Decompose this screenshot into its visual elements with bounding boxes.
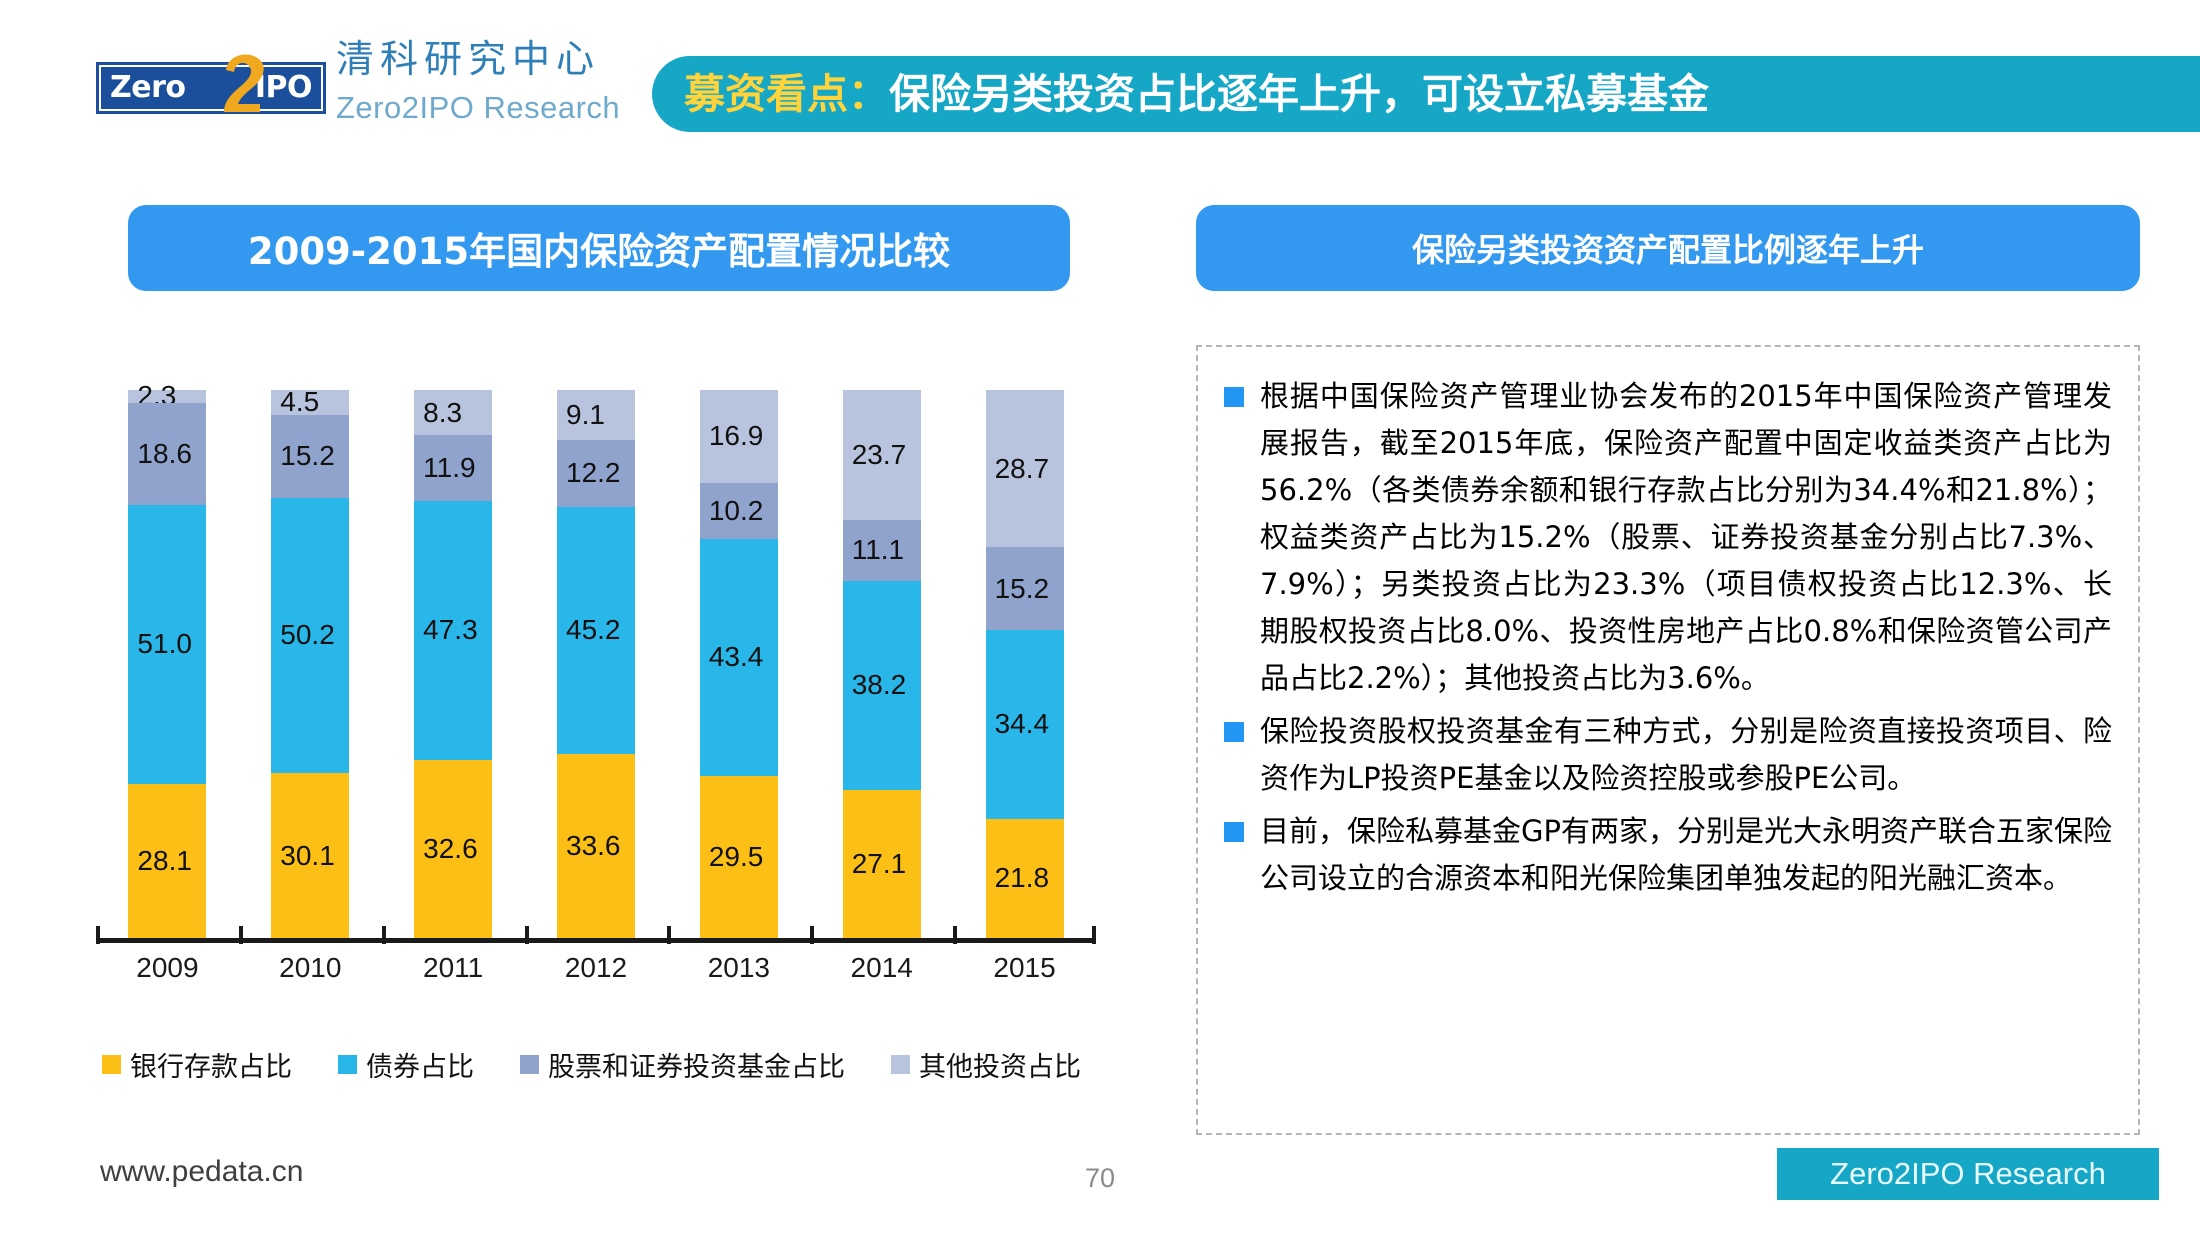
x-axis-tick [953, 926, 957, 944]
x-axis-tick [810, 926, 814, 944]
bar-segment: 28.1 [128, 784, 206, 938]
legend-item: 其他投资占比 [891, 1045, 1081, 1084]
bar-value-label: 43.4 [709, 643, 764, 671]
bar-2014: 23.711.138.227.1 [843, 390, 921, 938]
bar-value-label: 38.2 [852, 671, 907, 699]
banner-highlight-text: 募资看点： [684, 74, 889, 115]
stacked-bar-chart: 2.318.651.028.14.515.250.230.18.311.947.… [96, 330, 1156, 1120]
bar-value-label: 9.1 [566, 401, 605, 429]
x-axis-tick [1092, 926, 1096, 944]
commentary-panel: 根据中国保险资产管理业协会发布的2015年中国保险资产管理发展报告，截至2015… [1196, 345, 2140, 1135]
bullet-text: 根据中国保险资产管理业协会发布的2015年中国保险资产管理发展报告，截至2015… [1260, 373, 2112, 702]
bar-value-label: 28.7 [995, 455, 1050, 483]
bar-2009: 2.318.651.028.1 [128, 390, 206, 938]
bullet-text: 保险投资股权投资基金有三种方式，分别是险资直接投资项目、险资作为LP投资PE基金… [1260, 708, 2112, 802]
x-axis-label-2014: 2014 [827, 952, 937, 984]
bullet-item: 目前，保险私募基金GP有两家，分别是光大永明资产联合五家保险公司设立的合源资本和… [1224, 808, 2112, 902]
bar-value-label: 8.3 [423, 399, 462, 427]
bar-2010: 4.515.250.230.1 [271, 390, 349, 938]
bar-value-label: 23.7 [852, 441, 907, 469]
bar-2013: 16.910.243.429.5 [700, 390, 778, 938]
bar-value-label: 12.2 [566, 459, 621, 487]
bar-2015: 28.715.234.421.8 [986, 390, 1064, 938]
bar-segment: 33.6 [557, 754, 635, 938]
bar-value-label: 15.2 [280, 442, 335, 470]
legend-item: 银行存款占比 [102, 1045, 292, 1084]
slide-header: Zero IPO 清科研究中心 Zero2IPO Research 募资看点：保… [0, 0, 2200, 160]
bar-segment: 12.2 [557, 440, 635, 507]
legend-item: 债券占比 [338, 1045, 474, 1084]
bar-segment: 43.4 [700, 539, 778, 777]
bar-value-label: 50.2 [280, 621, 335, 649]
square-bullet-icon [1224, 822, 1244, 842]
bar-segment: 11.9 [414, 435, 492, 500]
brand-name-cn: 清科研究中心 [336, 40, 600, 80]
bar-value-label: 18.6 [137, 440, 192, 468]
x-axis-tick [96, 926, 100, 944]
x-axis-label-2012: 2012 [541, 952, 651, 984]
bar-value-label: 11.9 [423, 454, 475, 482]
x-axis-tick [382, 926, 386, 944]
bar-segment: 32.6 [414, 760, 492, 938]
footer-brand-badge: Zero2IPO Research [1777, 1148, 2159, 1200]
x-axis-label-2015: 2015 [970, 952, 1080, 984]
bar-segment: 28.7 [986, 390, 1064, 547]
bar-segment: 50.2 [271, 498, 349, 773]
bar-value-label: 47.3 [423, 616, 478, 644]
x-axis-label-2011: 2011 [398, 952, 508, 984]
bar-value-label: 30.1 [280, 842, 335, 870]
bar-segment: 10.2 [700, 483, 778, 539]
banner-rest-text: 保险另类投资占比逐年上升，可设立私募基金 [889, 74, 1709, 115]
legend-label: 银行存款占比 [130, 1045, 292, 1084]
zero2ipo-logo: Zero IPO [96, 48, 326, 114]
bar-2012: 9.112.245.233.6 [557, 390, 635, 938]
bar-value-label: 32.6 [423, 835, 478, 863]
square-bullet-icon [1224, 387, 1244, 407]
bullet-text: 目前，保险私募基金GP有两家，分别是光大永明资产联合五家保险公司设立的合源资本和… [1260, 808, 2112, 902]
bar-segment: 45.2 [557, 507, 635, 754]
left-panel-title: 2009-2015年国内保险资产配置情况比较 [128, 205, 1070, 291]
x-axis-labels: 2009201020112012201320142015 [96, 952, 1096, 998]
footer-website-url: www.pedata.cn [100, 1155, 303, 1189]
bar-value-label: 45.2 [566, 616, 621, 644]
legend-label: 债券占比 [366, 1045, 474, 1084]
bar-segment: 4.5 [271, 390, 349, 415]
logo-frame: Zero IPO [96, 62, 326, 114]
bar-2011: 8.311.947.332.6 [414, 390, 492, 938]
header-title-banner: 募资看点：保险另类投资占比逐年上升，可设立私募基金 [652, 56, 2200, 132]
bar-segment: 29.5 [700, 776, 778, 938]
x-axis-tick [239, 926, 243, 944]
bullet-item: 保险投资股权投资基金有三种方式，分别是险资直接投资项目、险资作为LP投资PE基金… [1224, 708, 2112, 802]
x-axis-tick [525, 926, 529, 944]
bar-value-label: 10.2 [709, 497, 764, 525]
bar-value-label: 29.5 [709, 843, 764, 871]
bar-segment: 34.4 [986, 630, 1064, 818]
bar-value-label: 28.1 [137, 847, 192, 875]
brand-name-en: Zero2IPO Research [336, 90, 620, 126]
chart-plot-area: 2.318.651.028.14.515.250.230.18.311.947.… [96, 390, 1096, 938]
legend-label: 股票和证券投资基金占比 [548, 1045, 845, 1084]
bar-segment: 8.3 [414, 390, 492, 435]
bar-segment: 51.0 [128, 505, 206, 784]
bar-value-label: 16.9 [709, 422, 764, 450]
bar-value-label: 33.6 [566, 832, 621, 860]
bar-segment: 15.2 [271, 415, 349, 498]
legend-swatch-icon [520, 1055, 539, 1074]
bar-value-label: 27.1 [852, 850, 907, 878]
footer-page-number: 70 [1070, 1163, 1130, 1194]
legend-item: 股票和证券投资基金占比 [520, 1045, 845, 1084]
chart-legend: 银行存款占比债券占比股票和证券投资基金占比其他投资占比 [102, 1042, 1132, 1086]
x-axis-label-2009: 2009 [112, 952, 222, 984]
bar-segment: 16.9 [700, 390, 778, 483]
bar-value-label: 15.2 [995, 575, 1050, 603]
x-axis-line [96, 938, 1096, 943]
x-axis-label-2010: 2010 [255, 952, 365, 984]
slide-root: Zero IPO 清科研究中心 Zero2IPO Research 募资看点：保… [0, 0, 2200, 1238]
bar-value-label: 51.0 [137, 630, 192, 658]
bullet-item: 根据中国保险资产管理业协会发布的2015年中国保险资产管理发展报告，截至2015… [1224, 373, 2112, 702]
bar-segment: 30.1 [271, 773, 349, 938]
bar-segment: 23.7 [843, 390, 921, 520]
bar-segment: 27.1 [843, 790, 921, 938]
bar-segment: 18.6 [128, 403, 206, 505]
legend-swatch-icon [102, 1055, 121, 1074]
bar-segment: 9.1 [557, 390, 635, 440]
bar-value-label: 34.4 [995, 710, 1050, 738]
logo-inner: Zero IPO [101, 67, 321, 109]
bar-segment: 38.2 [843, 581, 921, 790]
x-axis-label-2013: 2013 [684, 952, 794, 984]
bar-segment: 2.3 [128, 390, 206, 403]
bar-segment: 47.3 [414, 501, 492, 760]
right-panel-title: 保险另类投资资产配置比例逐年上升 [1196, 205, 2140, 291]
x-axis-tick [667, 926, 671, 944]
bar-value-label: 4.5 [280, 388, 319, 416]
bar-value-label: 11.1 [852, 536, 904, 564]
square-bullet-icon [1224, 722, 1244, 742]
bar-segment: 11.1 [843, 520, 921, 581]
legend-label: 其他投资占比 [919, 1045, 1081, 1084]
legend-swatch-icon [891, 1055, 910, 1074]
bar-value-label: 21.8 [995, 864, 1050, 892]
logo-zero-text: Zero [110, 73, 186, 103]
bar-segment: 15.2 [986, 547, 1064, 630]
legend-swatch-icon [338, 1055, 357, 1074]
logo-ipo-text: IPO [255, 73, 312, 103]
bar-segment: 21.8 [986, 819, 1064, 938]
